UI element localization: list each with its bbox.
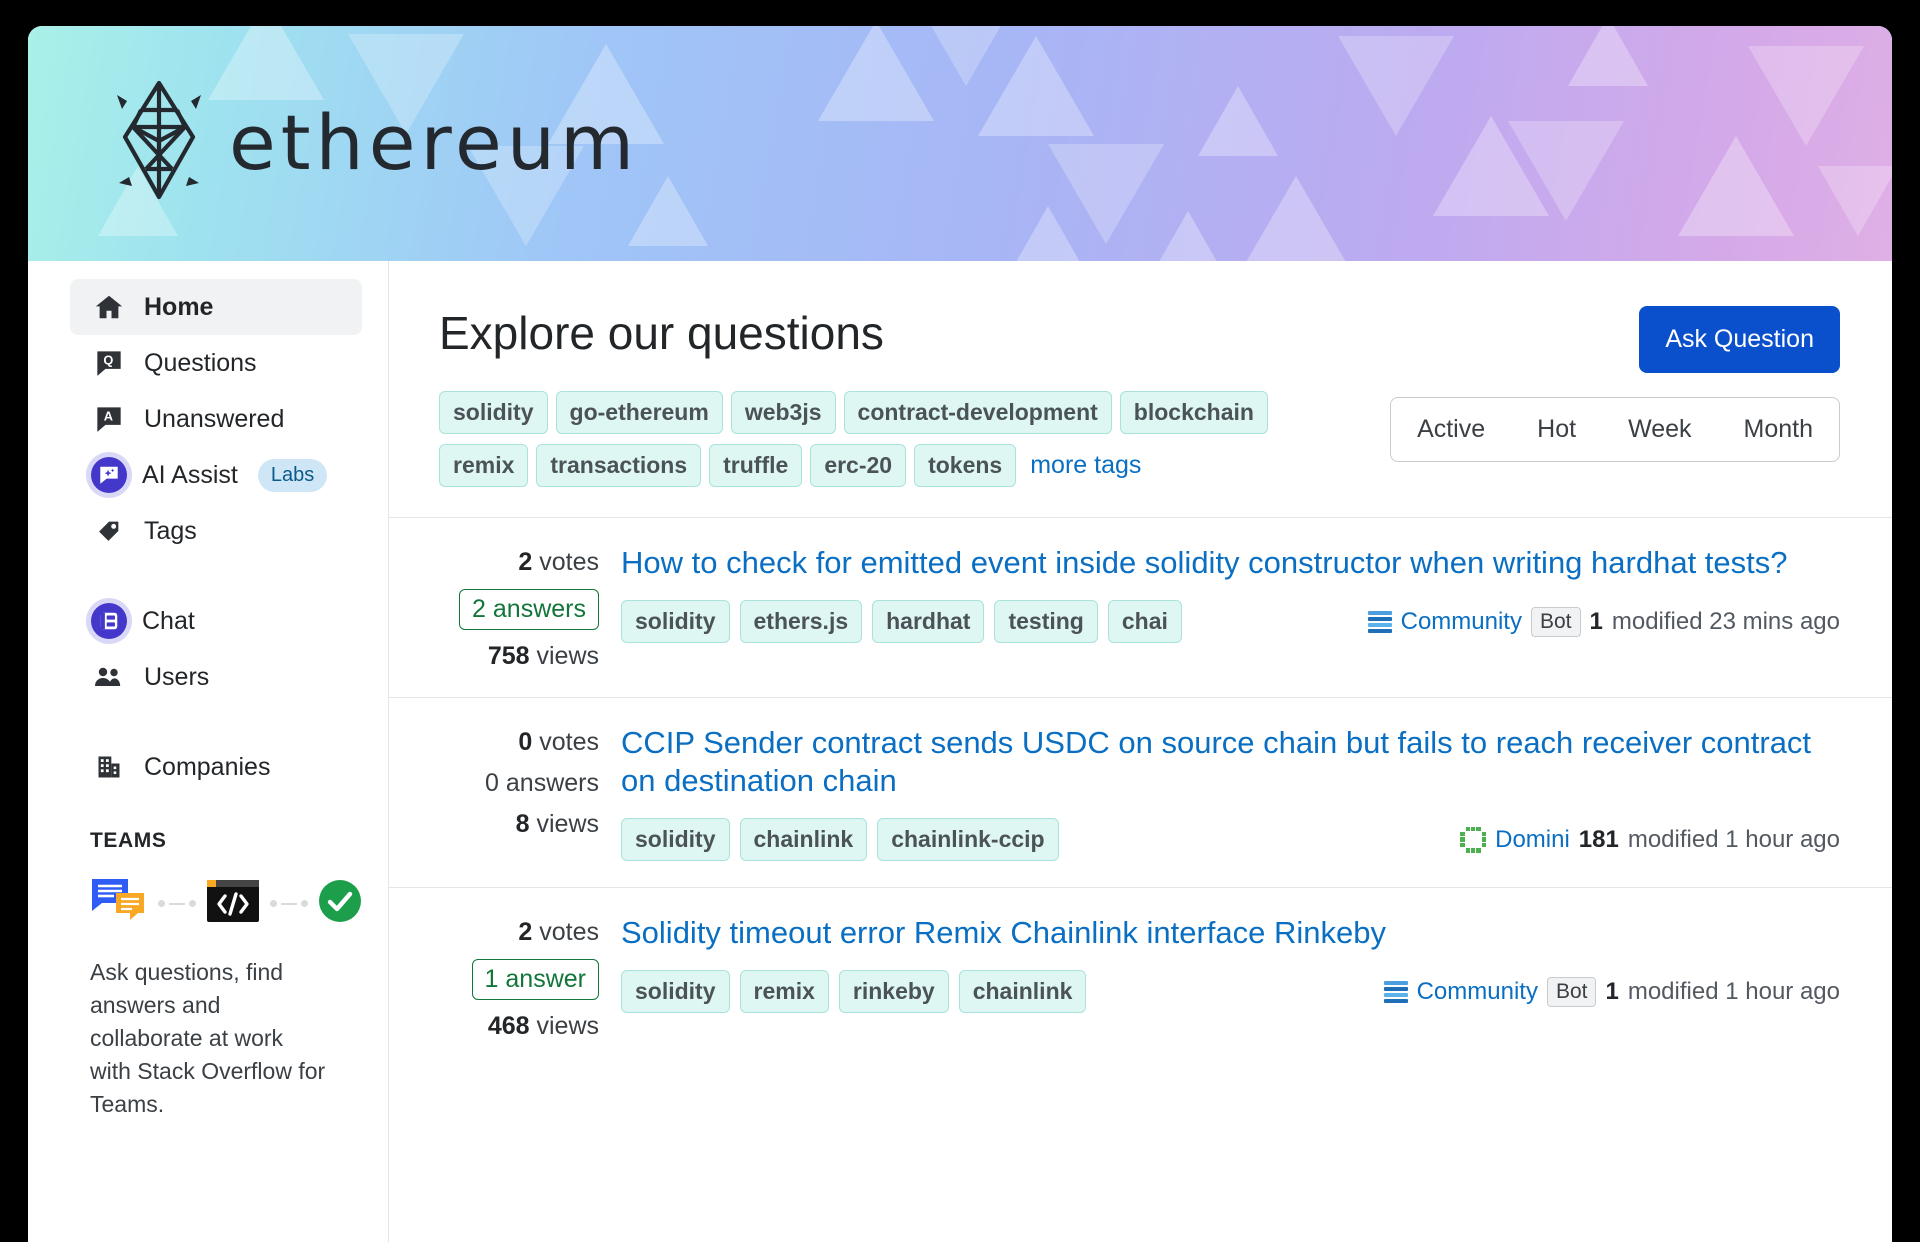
question-footer: solidity remix rinkeby chainlink Co xyxy=(621,970,1840,1013)
device-frame: ethereum Home xyxy=(0,0,1920,1242)
sidebar-item-home[interactable]: Home xyxy=(70,279,362,335)
teams-description: Ask questions, find answers and collabor… xyxy=(90,956,330,1121)
tag-pill[interactable]: truffle xyxy=(709,444,802,487)
tag-pill[interactable]: solidity xyxy=(439,391,548,434)
sidebar-item-label: Chat xyxy=(142,607,195,636)
app-screen: ethereum Home xyxy=(28,26,1892,1242)
activity-time: modified 1 hour ago xyxy=(1628,826,1840,854)
connector-dots-left xyxy=(158,900,196,907)
community-stack-icon xyxy=(1368,609,1392,635)
vote-count: 2 votes xyxy=(518,918,599,947)
ask-question-button[interactable]: Ask Question xyxy=(1639,306,1840,373)
tag-pill[interactable]: ethers.js xyxy=(740,600,863,643)
sidebar-item-ai-assist[interactable]: AI Assist Labs xyxy=(70,447,362,503)
sidebar-item-label: Questions xyxy=(144,349,257,378)
community-stack-icon xyxy=(1384,979,1408,1005)
sidebar-item-companies[interactable]: Companies xyxy=(70,739,362,795)
question-footer: solidity chainlink chainlink-ccip xyxy=(621,818,1840,861)
user-link[interactable]: Community xyxy=(1417,978,1538,1006)
activity-time: modified 23 mins ago xyxy=(1612,608,1840,636)
question-title-link[interactable]: Solidity timeout error Remix Chainlink i… xyxy=(621,914,1840,952)
question-stats: 0 votes 0 answers 8 views xyxy=(439,724,599,861)
code-window-icon xyxy=(206,879,260,928)
question-title-link[interactable]: CCIP Sender contract sends USDC on sourc… xyxy=(621,724,1840,800)
vote-count: 2 votes xyxy=(518,548,599,577)
question-main: Solidity timeout error Remix Chainlink i… xyxy=(621,914,1840,1041)
tab-month[interactable]: Month xyxy=(1718,398,1839,461)
question-meta: Community Bot 1 modified 23 mins ago xyxy=(1368,607,1840,637)
question-row[interactable]: 2 votes 1 answer 468 views Solidity time… xyxy=(389,887,1892,1067)
sidebar-item-label: Unanswered xyxy=(144,405,284,434)
question-meta: Domini 181 modified 1 hour ago xyxy=(1460,826,1840,854)
sidebar-divider-gap-3 xyxy=(28,795,388,829)
site-banner: ethereum xyxy=(28,26,1892,261)
tag-cloud: solidity go-ethereum web3js contract-dev… xyxy=(439,391,1269,487)
tab-hot[interactable]: Hot xyxy=(1511,398,1602,461)
tag-pill[interactable]: web3js xyxy=(731,391,836,434)
tag-pill[interactable]: testing xyxy=(994,600,1097,643)
chat-panels-icon xyxy=(86,598,132,644)
ethereum-diamond-icon xyxy=(113,79,205,206)
sidebar-divider-gap-2 xyxy=(28,705,388,739)
tag-pill[interactable]: solidity xyxy=(621,600,730,643)
more-tags-link[interactable]: more tags xyxy=(1030,451,1141,480)
sidebar: Home Q Questions A xyxy=(28,261,388,1242)
tag-pill[interactable]: contract-development xyxy=(844,391,1112,434)
sidebar-item-users[interactable]: Users xyxy=(70,649,362,705)
tag-pill[interactable]: chainlink xyxy=(959,970,1087,1013)
tag-pill[interactable]: chainlink xyxy=(740,818,868,861)
question-list: 2 votes 2 answers 758 views How to check… xyxy=(389,517,1892,1067)
sidebar-item-label: Companies xyxy=(144,753,270,782)
sidebar-item-unanswered[interactable]: A Unanswered xyxy=(70,391,362,447)
tag-pill[interactable]: hardhat xyxy=(872,600,984,643)
svg-text:A: A xyxy=(104,408,113,423)
user-reputation: 181 xyxy=(1579,826,1619,854)
main-header: Explore our questions Ask Question xyxy=(389,261,1892,373)
labs-badge: Labs xyxy=(258,459,327,492)
sidebar-item-label: Users xyxy=(144,663,209,692)
tag-pill[interactable]: remix xyxy=(439,444,528,487)
main-content: Explore our questions Ask Question solid… xyxy=(388,261,1892,1242)
svg-text:Q: Q xyxy=(103,352,113,367)
tag-pill[interactable]: solidity xyxy=(621,970,730,1013)
chat-bubbles-icon xyxy=(90,877,148,930)
tag-pill[interactable]: chai xyxy=(1108,600,1182,643)
view-count: 8 views xyxy=(516,810,599,839)
answer-count: 2 answers xyxy=(459,589,599,630)
question-meta: Community Bot 1 modified 1 hour ago xyxy=(1384,977,1840,1007)
sidebar-item-questions[interactable]: Q Questions xyxy=(70,335,362,391)
sidebar-item-label: Home xyxy=(144,293,213,322)
vote-count: 0 votes xyxy=(518,728,599,757)
bot-badge: Bot xyxy=(1531,607,1581,637)
user-reputation: 1 xyxy=(1590,608,1603,636)
question-row[interactable]: 2 votes 2 answers 758 views How to check… xyxy=(389,517,1892,697)
user-link[interactable]: Domini xyxy=(1495,826,1570,854)
identicon-green xyxy=(1460,827,1486,853)
activity-time: modified 1 hour ago xyxy=(1628,978,1840,1006)
site-logo[interactable]: ethereum xyxy=(113,79,639,206)
user-reputation: 1 xyxy=(1605,978,1618,1006)
teams-section-heading: TEAMS xyxy=(90,829,388,853)
ai-sparkle-bubble-icon xyxy=(86,452,132,498)
building-icon xyxy=(92,753,126,781)
question-title-link[interactable]: How to check for emitted event inside so… xyxy=(621,544,1840,582)
tag-pill[interactable]: rinkeby xyxy=(839,970,949,1013)
tag-pill[interactable]: erc-20 xyxy=(810,444,906,487)
sidebar-item-label: AI Assist xyxy=(142,461,238,490)
question-tags: solidity remix rinkeby chainlink xyxy=(621,970,1086,1013)
tag-pill[interactable]: remix xyxy=(740,970,829,1013)
sidebar-divider-gap-1 xyxy=(28,559,388,593)
tab-active[interactable]: Active xyxy=(1391,398,1511,461)
users-icon xyxy=(92,663,126,691)
user-link[interactable]: Community xyxy=(1401,608,1522,636)
view-count: 758 views xyxy=(488,642,599,671)
answer-count: 0 answers xyxy=(485,769,599,798)
question-row[interactable]: 0 votes 0 answers 8 views CCIP Sender co… xyxy=(389,697,1892,887)
question-stats: 2 votes 2 answers 758 views xyxy=(439,544,599,671)
question-tags: solidity ethers.js hardhat testing chai xyxy=(621,600,1182,643)
teams-illustration xyxy=(90,877,388,930)
page-title: Explore our questions xyxy=(439,306,884,360)
tag-pill[interactable]: solidity xyxy=(621,818,730,861)
connector-dots-right xyxy=(270,900,308,907)
tag-pill[interactable]: tokens xyxy=(914,444,1016,487)
app-body: Home Q Questions A xyxy=(28,261,1892,1242)
sidebar-item-chat[interactable]: Chat xyxy=(70,593,362,649)
question-stats: 2 votes 1 answer 468 views xyxy=(439,914,599,1041)
question-main: How to check for emitted event inside so… xyxy=(621,544,1840,671)
sidebar-item-tags[interactable]: Tags xyxy=(70,503,362,559)
tag-pill[interactable]: transactions xyxy=(536,444,701,487)
question-footer: solidity ethers.js hardhat testing chai xyxy=(621,600,1840,643)
bot-badge: Bot xyxy=(1547,977,1597,1007)
filter-row: solidity go-ethereum web3js contract-dev… xyxy=(389,373,1892,487)
question-tags: solidity chainlink chainlink-ccip xyxy=(621,818,1059,861)
tag-icon xyxy=(92,517,126,545)
sort-tabs: Active Hot Week Month xyxy=(1390,397,1840,462)
answer-bubble-icon: A xyxy=(92,405,126,433)
tag-pill[interactable]: chainlink-ccip xyxy=(877,818,1058,861)
site-logo-text: ethereum xyxy=(229,98,639,187)
sidebar-item-label: Tags xyxy=(144,517,197,546)
home-icon xyxy=(92,292,126,322)
question-main: CCIP Sender contract sends USDC on sourc… xyxy=(621,724,1840,861)
tab-week[interactable]: Week xyxy=(1602,398,1717,461)
view-count: 468 views xyxy=(488,1012,599,1041)
green-check-icon xyxy=(318,879,362,928)
answer-count: 1 answer xyxy=(472,959,599,1000)
tag-pill[interactable]: go-ethereum xyxy=(556,391,723,434)
tag-pill[interactable]: blockchain xyxy=(1120,391,1268,434)
question-bubble-icon: Q xyxy=(92,349,126,377)
